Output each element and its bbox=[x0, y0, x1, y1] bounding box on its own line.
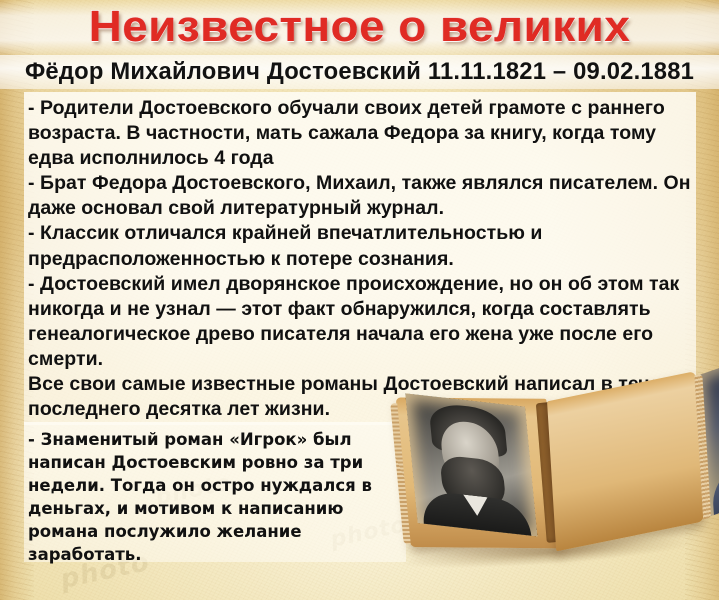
portrait-photo-bw bbox=[405, 393, 537, 536]
book-right-page bbox=[547, 371, 704, 551]
fact-item: - Брат Федора Достоевского, Михаил, такж… bbox=[28, 171, 696, 221]
subtitle-name-and-dates: Фёдор Михайлович Достоевский 11.11.1821 … bbox=[4, 58, 716, 86]
portrait-torso bbox=[711, 435, 719, 517]
facts-block-secondary: - Знаменитый роман «Игрок» был написан Д… bbox=[28, 428, 400, 566]
open-book-illustration bbox=[397, 381, 710, 582]
page-title: Неизвестное о великих bbox=[0, 2, 719, 52]
poster-root: photo photo photo Неизвестное о великих … bbox=[0, 0, 719, 600]
book-left-page bbox=[396, 397, 561, 548]
fact-item: - Классик отличался крайней впечатлитель… bbox=[28, 221, 696, 271]
fact-item: - Достоевский имел дворянское происхожде… bbox=[28, 272, 696, 372]
fact-item: - Родители Достоевского обучали своих де… bbox=[28, 96, 696, 171]
facts-block-primary: - Родители Достоевского обучали своих де… bbox=[28, 96, 696, 422]
portrait-photo-color bbox=[699, 333, 719, 517]
fact-item: - Знаменитый роман «Игрок» был написан Д… bbox=[28, 428, 400, 566]
